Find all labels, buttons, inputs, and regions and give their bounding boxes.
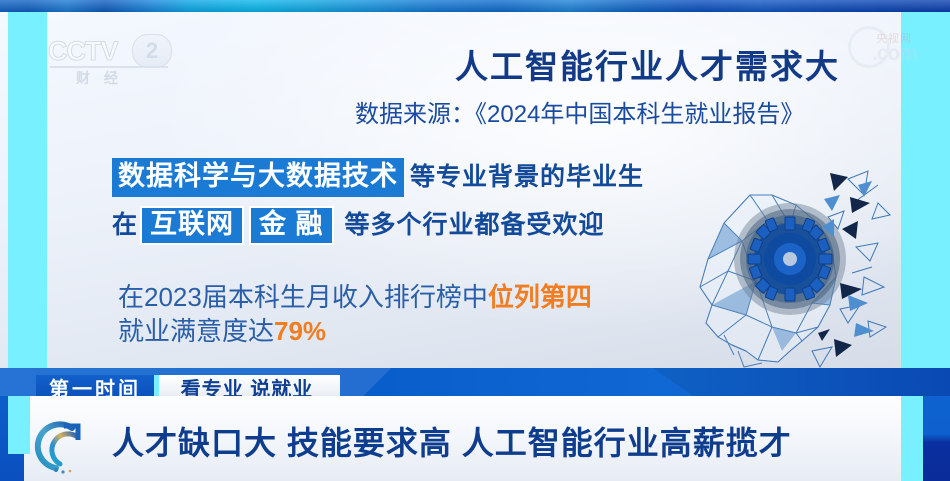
ticker-left-cyan-accent (8, 396, 30, 454)
left-cyan-accent-bar (8, 12, 47, 368)
body-line-2: 在互联网金 融等多个行业都备受欢迎 (112, 206, 752, 245)
body-line-4-text: 就业满意度达 (118, 316, 274, 346)
ticker-right-blue-edge (923, 396, 950, 481)
body-text-block: 数据科学与大数据技术等专业背景的毕业生 在互联网金 融等多个行业都备受欢迎 (112, 158, 752, 254)
cctv2-logo: CCTV 2 财经 (48, 36, 198, 90)
swirl-arrow-icon (34, 418, 96, 476)
body-line-3: 在2023届本科生月收入排行榜中位列第四 (118, 280, 592, 314)
ticker-right-cyan-edge (901, 396, 923, 481)
body-line-2-rest: 等多个行业都备受欢迎 (345, 213, 605, 238)
stats-block: 在2023届本科生月收入排行榜中位列第四 就业满意度达79% (118, 280, 592, 349)
body-line-2-prefix: 在 (112, 213, 138, 238)
top-strip-sheen (0, 0, 950, 12)
body-line-4: 就业满意度达79% (118, 314, 592, 348)
ticker-headline: 人才缺口大 技能要求高 人工智能行业高薪揽才 (112, 418, 792, 464)
right-cyan-accent-bar (901, 12, 950, 368)
body-line-1: 数据科学与大数据技术等专业背景的毕业生 (112, 158, 752, 197)
body-line-3-text: 在2023届本科生月收入排行榜中 (118, 282, 488, 312)
page-title: 人工智能行业人才需求大 (455, 40, 840, 88)
highlight-major: 数据科学与大数据技术 (112, 158, 404, 197)
highlight-tag-finance: 金 融 (249, 206, 334, 245)
highlight-tag-internet: 互联网 (140, 206, 244, 245)
body-line-4-emphasis: 79% (274, 316, 326, 346)
cctv-logo-text: CCTV (48, 36, 118, 67)
cctv-channel-name: 财经 (76, 68, 172, 88)
body-line-3-emphasis: 位列第四 (488, 282, 592, 312)
cctv-channel-number: 2 (132, 34, 172, 68)
body-line-1-rest: 等专业背景的毕业生 (410, 165, 644, 190)
data-source-line: 数据来源：《2024年中国本科生就业报告》 (355, 94, 804, 129)
broadcast-screen: CCTV 2 财经 央视网 .com 人工智能行业人才需求大 数据来源：《202… (0, 0, 950, 481)
